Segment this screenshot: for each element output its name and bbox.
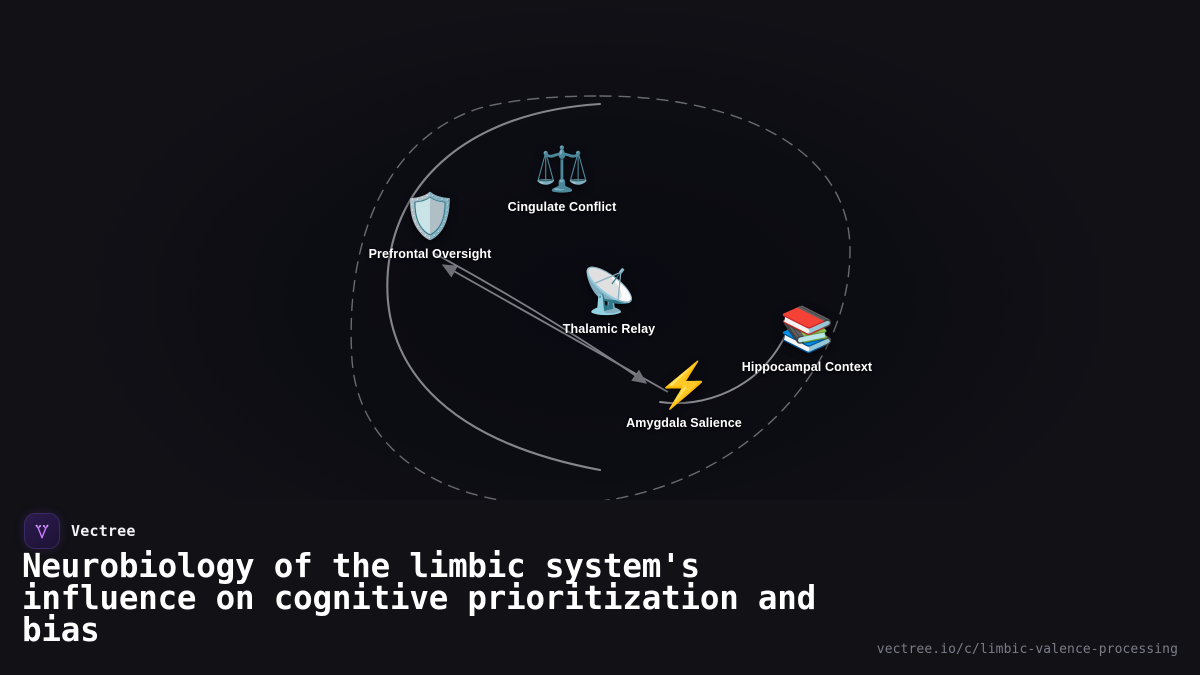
brand-name: Vectree	[71, 522, 136, 540]
page-title: Neurobiology of the limbic system's infl…	[22, 550, 852, 646]
graph-node-amygdala[interactable]: ⚡ Amygdala Salience	[574, 362, 794, 430]
graph-edges-svg	[0, 0, 1200, 506]
graph-node-thalamic[interactable]: 📡 Thalamic Relay	[499, 268, 719, 336]
balance-scales-icon: ⚖️	[452, 146, 672, 194]
footer: Vectree Neurobiology of the limbic syste…	[0, 500, 1200, 675]
vectree-tree-logo-icon	[24, 513, 60, 549]
graph-node-label: Prefrontal Oversight	[320, 247, 540, 261]
graph-node-label: Thalamic Relay	[499, 322, 719, 336]
books-icon: 📚	[697, 306, 917, 354]
satellite-dish-icon: 📡	[499, 268, 719, 316]
graph-node-label: Amygdala Salience	[574, 416, 794, 430]
brand[interactable]: Vectree	[24, 513, 136, 549]
shield-icon: 🛡️	[320, 193, 540, 241]
share-card-root: ⚖️ Cingulate Conflict 🛡️ Prefrontal Over…	[0, 0, 1200, 675]
share-url: vectree.io/c/limbic-valence-processing	[877, 642, 1178, 657]
lightning-bolt-icon: ⚡	[574, 362, 794, 410]
graph-node-prefrontal[interactable]: 🛡️ Prefrontal Oversight	[320, 193, 540, 261]
graph-canvas[interactable]: ⚖️ Cingulate Conflict 🛡️ Prefrontal Over…	[0, 0, 1200, 506]
